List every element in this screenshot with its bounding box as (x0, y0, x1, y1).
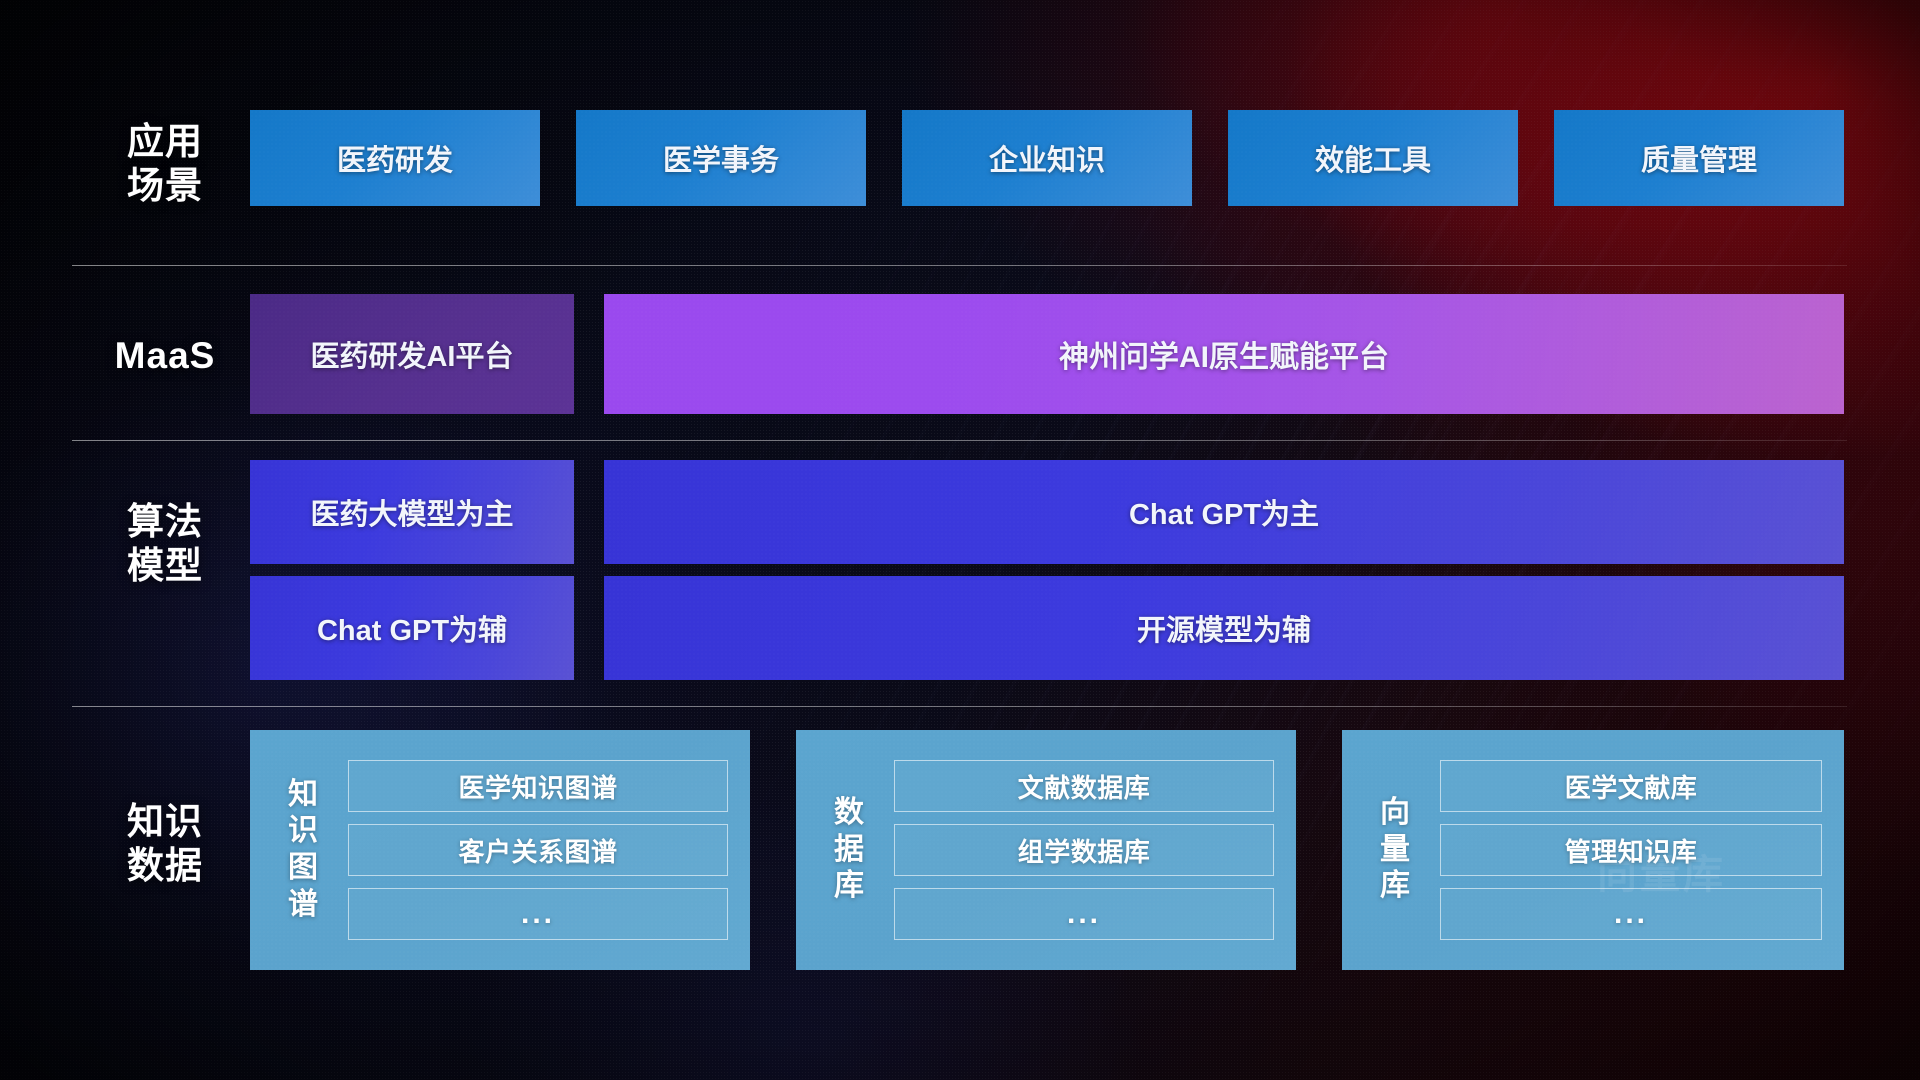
architecture-layers: 应用场景 医药研发 医学事务 企业知识 效能工具 质量管理 MaaS 医药研发A… (0, 0, 1920, 1080)
knowledge-item[interactable]: 管理知识库 (1440, 824, 1822, 876)
knowledge-item[interactable]: 医学知识图谱 (348, 760, 728, 812)
knowledge-item-label: 医学文献库 (1565, 768, 1698, 805)
knowledge-group-vector-store-title: 向量库 (1364, 795, 1426, 905)
app-box-medical-affairs-label: 医学事务 (663, 137, 779, 179)
app-box-drug-rnd[interactable]: 医药研发 (250, 110, 540, 206)
knowledge-item-more-label: ... (1614, 897, 1648, 931)
algorithm-box-opensource-secondary-label: 开源模型为辅 (1137, 607, 1311, 649)
row-label-algorithm: 算法模型 (85, 500, 245, 587)
knowledge-item[interactable]: 医学文献库 (1440, 760, 1822, 812)
app-box-quality-management-label: 质量管理 (1641, 137, 1757, 179)
row-label-application: 应用场景 (85, 120, 245, 207)
knowledge-item-more-label: ... (521, 897, 555, 931)
app-box-efficiency-tools[interactable]: 效能工具 (1228, 110, 1518, 206)
algorithm-box-chatgpt-secondary[interactable]: Chat GPT为辅 (250, 576, 574, 680)
knowledge-item[interactable]: 文献数据库 (894, 760, 1274, 812)
diagram-canvas: 应用场景 医药研发 医学事务 企业知识 效能工具 质量管理 MaaS 医药研发A… (0, 0, 1920, 1080)
knowledge-item-label: 文献数据库 (1018, 768, 1151, 805)
knowledge-group-knowledge-graph-title: 知识图谱 (272, 777, 334, 923)
knowledge-group-database-items: 文献数据库 组学数据库 ... (880, 760, 1296, 940)
algorithm-box-opensource-secondary[interactable]: 开源模型为辅 (604, 576, 1844, 680)
row-label-knowledge: 知识数据 (85, 800, 245, 887)
knowledge-item-more-label: ... (1067, 897, 1101, 931)
app-box-drug-rnd-label: 医药研发 (337, 137, 453, 179)
app-box-enterprise-knowledge[interactable]: 企业知识 (902, 110, 1192, 206)
app-box-enterprise-knowledge-label: 企业知识 (989, 137, 1105, 179)
algorithm-box-chatgpt-primary[interactable]: Chat GPT为主 (604, 460, 1844, 564)
algorithm-box-chatgpt-secondary-label: Chat GPT为辅 (317, 607, 507, 649)
knowledge-item[interactable]: 组学数据库 (894, 824, 1274, 876)
knowledge-group-database[interactable]: 数据库 文献数据库 组学数据库 ... (796, 730, 1296, 970)
knowledge-item-label: 管理知识库 (1565, 832, 1698, 869)
algorithm-box-drug-llm-primary[interactable]: 医药大模型为主 (250, 460, 574, 564)
row-label-maas: MaaS (85, 334, 245, 378)
knowledge-group-database-title: 数据库 (818, 795, 880, 905)
app-box-efficiency-tools-label: 效能工具 (1315, 137, 1431, 179)
knowledge-group-vector-store[interactable]: 向量库 向量库 医学文献库 管理知识库 ... (1342, 730, 1844, 970)
knowledge-item-more[interactable]: ... (348, 888, 728, 940)
knowledge-group-knowledge-graph[interactable]: 知识图谱 医学知识图谱 客户关系图谱 ... (250, 730, 750, 970)
divider-application-maas (72, 265, 1847, 266)
divider-maas-algorithm (72, 440, 1847, 441)
knowledge-item-more[interactable]: ... (894, 888, 1274, 940)
knowledge-group-knowledge-graph-items: 医学知识图谱 客户关系图谱 ... (334, 760, 750, 940)
algorithm-box-chatgpt-primary-label: Chat GPT为主 (1129, 491, 1319, 533)
app-box-medical-affairs[interactable]: 医学事务 (576, 110, 866, 206)
knowledge-item[interactable]: 客户关系图谱 (348, 824, 728, 876)
maas-box-shenzhou-platform-label: 神州问学AI原生赋能平台 (1059, 332, 1389, 376)
divider-algorithm-knowledge (72, 706, 1847, 707)
knowledge-item-more[interactable]: ... (1440, 888, 1822, 940)
knowledge-item-label: 组学数据库 (1018, 832, 1151, 869)
algorithm-box-drug-llm-primary-label: 医药大模型为主 (310, 491, 513, 533)
maas-box-drug-ai-platform[interactable]: 医药研发AI平台 (250, 294, 574, 414)
maas-box-shenzhou-platform[interactable]: 神州问学AI原生赋能平台 (604, 294, 1844, 414)
knowledge-group-vector-store-items: 医学文献库 管理知识库 ... (1426, 760, 1844, 940)
maas-box-drug-ai-platform-label: 医药研发AI平台 (310, 333, 513, 375)
app-box-quality-management[interactable]: 质量管理 (1554, 110, 1844, 206)
knowledge-item-label: 医学知识图谱 (458, 768, 617, 805)
knowledge-item-label: 客户关系图谱 (458, 832, 617, 869)
